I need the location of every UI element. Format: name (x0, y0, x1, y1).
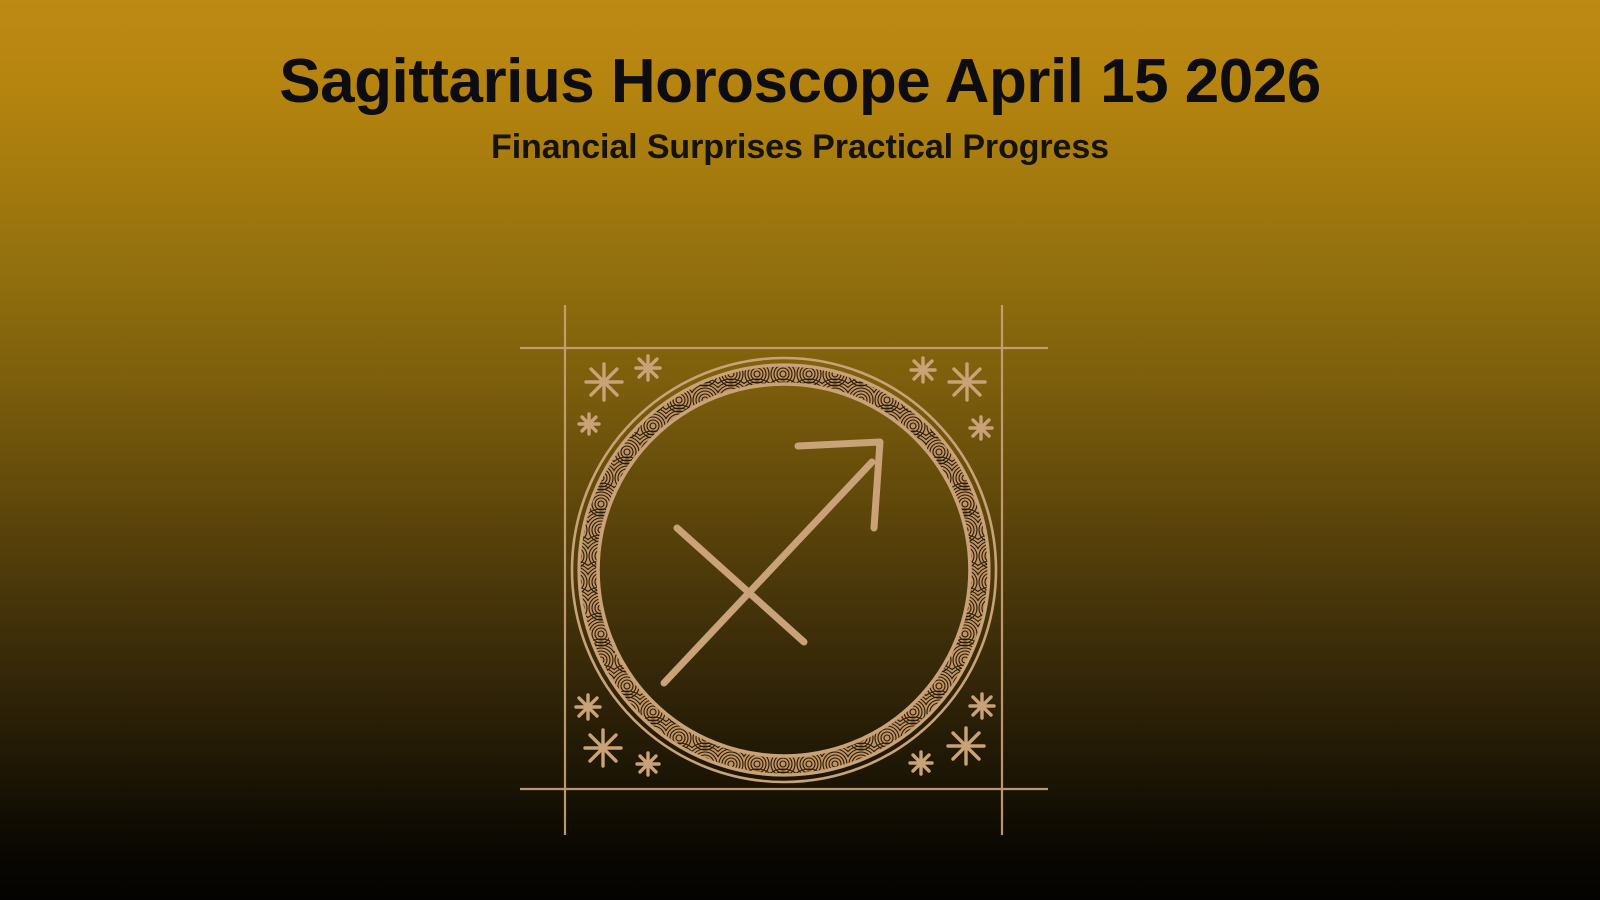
horoscope-poster: Sagittarius Horoscope April 15 2026 Fina… (0, 0, 1600, 900)
sparkle-star (970, 694, 994, 718)
sparkle-star (579, 414, 599, 434)
sparkle-star (948, 728, 984, 764)
sparkle-star (949, 364, 985, 400)
sparkle-star (970, 417, 992, 439)
page-subtitle: Financial Surprises Practical Progress (0, 114, 1600, 166)
zodiac-emblem (484, 270, 1084, 870)
ring-ornament-band (484, 270, 1084, 870)
header: Sagittarius Horoscope April 15 2026 Fina… (0, 0, 1600, 166)
sparkle-star (910, 752, 932, 774)
sparkle-star (586, 364, 622, 400)
sparkle-star (636, 356, 660, 380)
sagittarius-emblem-svg (484, 270, 1084, 870)
sparkle-star (585, 730, 621, 766)
sparkle-star (637, 753, 659, 775)
page-title: Sagittarius Horoscope April 15 2026 (0, 0, 1600, 114)
sparkle-star (576, 695, 600, 719)
sparkle-star (911, 358, 935, 382)
